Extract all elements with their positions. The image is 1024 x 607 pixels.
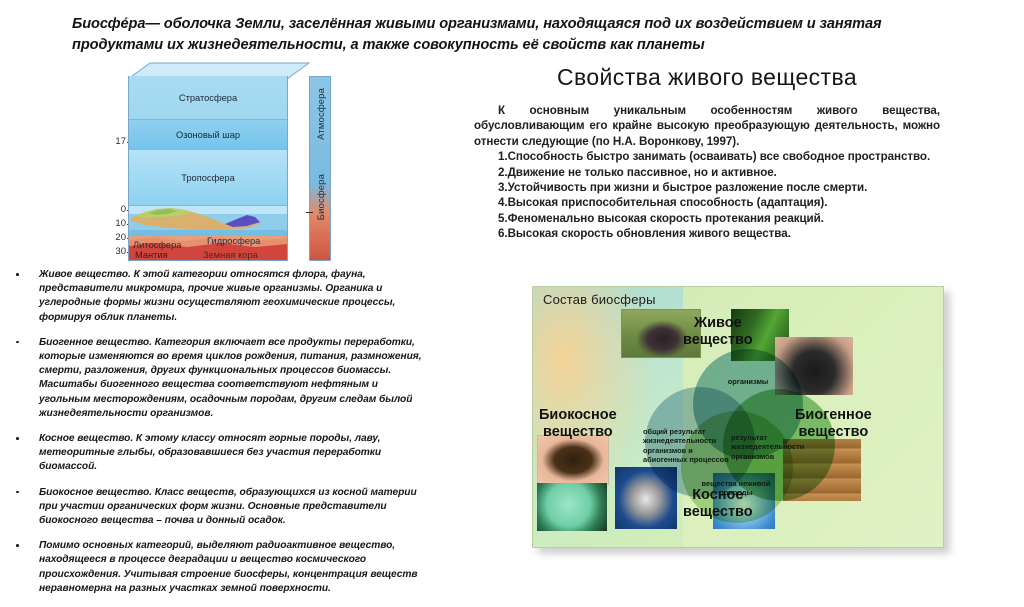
collage-title: Состав биосферы <box>543 292 656 307</box>
corner-label-living-matter: Живое вещество <box>683 315 753 349</box>
venn-label-combined: общий результат жизнедеятельности органи… <box>643 427 739 465</box>
list-item: Косное вещество. К этому классу относят … <box>12 432 432 475</box>
living-matter-properties-panel: Свойства живого вещества К основным уник… <box>474 64 940 242</box>
photo-soil-hands <box>537 435 609 485</box>
label-mantle: Мантия <box>135 250 168 260</box>
vertical-label-biosphere: Биосфера <box>315 174 326 220</box>
biosphere-composition-image: Состав биосферы организмы общий результа… <box>532 286 944 548</box>
property-item: 2.Движение не только пассивное, но и акт… <box>474 165 940 180</box>
venn-label-result: результат жизнедеятельности организмов <box>731 433 829 461</box>
list-item: Биокосное вещество. Класс веществ, образ… <box>12 486 432 529</box>
corner-label-biokosnoe-matter: Биокосное вещество <box>539 407 617 441</box>
scale-tick-17: 17 <box>115 136 126 147</box>
venn-diagram: организмы общий результат жизнедеятельно… <box>645 349 835 521</box>
property-item: 5.Феноменально высокая скорость протекан… <box>474 211 940 226</box>
property-item: 4.Высокая приспособительная способность … <box>474 195 940 210</box>
depth-scale: 17 0 10 20 30 <box>104 62 130 264</box>
scale-tick-0: 0 <box>121 204 126 215</box>
page-title: Биосфе́ра— оболочка Земли, заселённая жи… <box>72 14 952 56</box>
layer-ozone: Озоновый шар <box>129 120 287 150</box>
list-item: Живое вещество. К этой категории относят… <box>12 268 432 325</box>
biosphere-block-diagram: 17 0 10 20 30 Стратосфера Озоновый шар Т… <box>104 62 309 264</box>
label-hydrosphere: Гидросфера <box>207 236 260 246</box>
diagram-front-face: Стратосфера Озоновый шар Тропосфера <box>128 76 288 261</box>
substance-categories-list: Живое вещество. К этой категории относят… <box>12 268 432 607</box>
venn-label-nonliving: вещества неживой природы <box>701 479 771 498</box>
venn-label-organisms: организмы <box>709 377 787 386</box>
layer-label-stratosphere: Стратосфера <box>179 93 237 103</box>
photo-globe <box>537 483 607 531</box>
layer-stratosphere: Стратосфера <box>129 76 287 120</box>
list-item: Биогенное вещество. Категория включает в… <box>12 336 432 421</box>
layer-label-ozone: Озоновый шар <box>176 130 240 140</box>
scale-tick-20: 20 <box>115 232 126 243</box>
properties-intro: К основным уникальным особенностям живог… <box>474 103 940 149</box>
scale-tick-10: 10 <box>115 218 126 229</box>
label-earth-crust: Земная кора <box>203 250 258 260</box>
property-item: 6.Высокая скорость обновления живого вещ… <box>474 226 940 241</box>
scale-tick-30: 30 <box>115 246 126 257</box>
layer-ground: Литосфера Гидросфера Мантия Земная кора <box>129 206 287 260</box>
property-item: 3.Устойчивость при жизни и быстрое разло… <box>474 180 940 195</box>
list-item: Помимо основных категорий, выделяют ради… <box>12 539 432 596</box>
property-item: 1.Способность быстро занимать (осваивать… <box>474 149 940 164</box>
biosphere-extent-tick <box>306 212 313 213</box>
label-lithosphere: Литосфера <box>133 240 181 250</box>
vertical-label-atmosphere: Атмосфера <box>315 88 326 140</box>
properties-title: Свойства живого вещества <box>474 64 940 91</box>
layer-troposphere: Тропосфера <box>129 150 287 206</box>
layer-label-troposphere: Тропосфера <box>181 173 235 183</box>
